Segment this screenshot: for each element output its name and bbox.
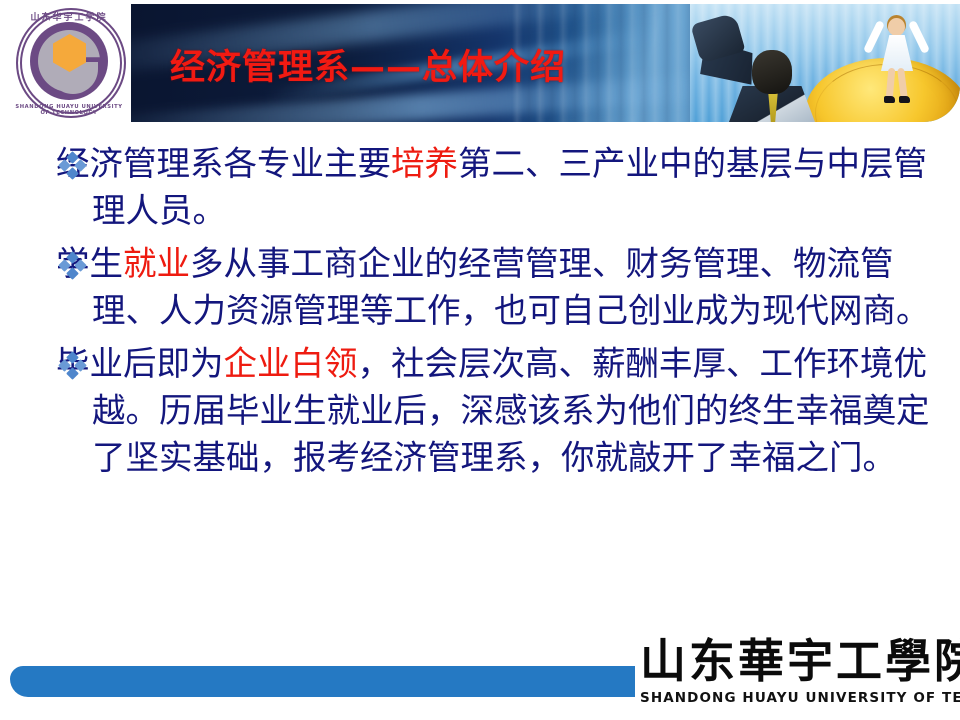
- bullet-item: 毕业后即为企业白领，社会层次高、薪酬丰厚、工作环境优越。历届毕业生就业后，深感该…: [0, 340, 960, 481]
- slide-header: 山东华宇工学院 SHANDONG HUAYU UNIVERSITY OF TEC…: [0, 0, 960, 126]
- slide-title: 经济管理系——总体介绍: [170, 48, 566, 88]
- footer-logo-english: SHANDONG HUAYU UNIVERSITY OF TECHNOLOGY: [640, 690, 955, 706]
- footer-university-logo: 山东華宇工學院 SHANDONG HUAYU UNIVERSITY OF TEC…: [640, 630, 955, 718]
- slide-footer: 山东華宇工學院 SHANDONG HUAYU UNIVERSITY OF TEC…: [0, 630, 960, 720]
- bullet-item: 经济管理系各专业主要培养第二、三产业中的基层与中层管理人员。: [0, 140, 960, 234]
- footer-logo-chinese: 山东華宇工學院: [640, 634, 955, 688]
- woman-left-shoe: [884, 96, 895, 103]
- businessman-head: [752, 50, 792, 94]
- plain-phrase: 多从事工商企业的经营管理、财务管理、物流管理、人力资源管理等工作，也可自己创业成…: [92, 244, 930, 330]
- crest-inner-disc: [30, 22, 108, 100]
- diamond-bullet-icon: [60, 353, 86, 379]
- highlighted-phrase: 就业: [123, 244, 190, 283]
- bullet-text: 学生就业多从事工商企业的经营管理、财务管理、物流管理、人力资源管理等工作，也可自…: [92, 240, 944, 334]
- highlighted-phrase: 企业白领: [224, 344, 358, 383]
- celebrating-woman-figure: [868, 18, 926, 104]
- university-crest-logo: 山东华宇工学院 SHANDONG HUAYU UNIVERSITY OF TEC…: [10, 4, 128, 122]
- woman-dress: [881, 35, 913, 71]
- diamond-bullet-icon: [60, 253, 86, 279]
- crest-english-arc-text: SHANDONG HUAYU UNIVERSITY OF TECHNOLOGY: [10, 104, 128, 116]
- bullet-text: 经济管理系各专业主要培养第二、三产业中的基层与中层管理人员。: [92, 140, 944, 234]
- diamond-bullet-icon: [60, 153, 86, 179]
- presentation-slide: 山东华宇工学院 SHANDONG HUAYU UNIVERSITY OF TEC…: [0, 0, 960, 720]
- woman-right-shoe: [899, 96, 910, 103]
- highlighted-phrase: 培养: [391, 144, 458, 183]
- woman-head: [888, 18, 905, 36]
- footer-accent-bar: [10, 666, 635, 697]
- slide-body: 经济管理系各专业主要培养第二、三产业中的基层与中层管理人员。 学生就业多从事工商…: [0, 140, 960, 487]
- bullet-item: 学生就业多从事工商企业的经营管理、财务管理、物流管理、人力资源管理等工作，也可自…: [0, 240, 960, 334]
- bullet-text: 毕业后即为企业白领，社会层次高、薪酬丰厚、工作环境优越。历届毕业生就业后，深感该…: [92, 340, 944, 481]
- plain-phrase: 经济管理系各专业主要: [56, 144, 391, 183]
- header-photo-collage: [690, 4, 960, 122]
